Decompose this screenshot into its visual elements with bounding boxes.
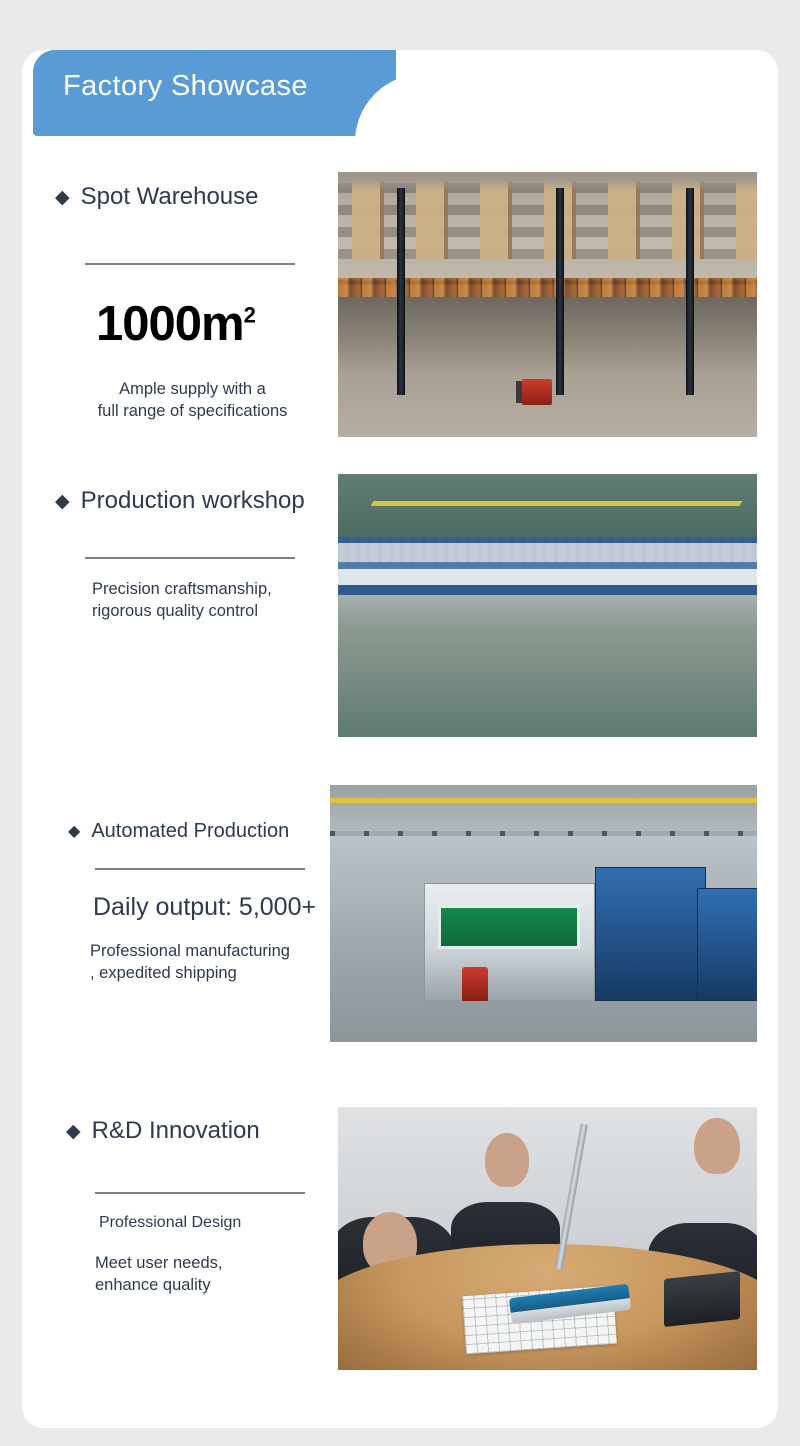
section-heading-automated-production: ◆ Automated Production <box>68 820 289 843</box>
automated-production-photo <box>330 785 757 1042</box>
photo-forklift <box>522 379 552 405</box>
section-title: R&D Innovation <box>92 1117 260 1145</box>
section-caption: Ample supply with a full range of specif… <box>85 378 300 423</box>
photo-laptop <box>664 1271 740 1327</box>
section-divider <box>95 868 305 870</box>
stat-daily-output: Daily output: 5,000+ <box>93 893 316 922</box>
section-subline: Professional Design <box>99 1214 241 1232</box>
section-heading-spot-warehouse: ◆ Spot Warehouse <box>55 183 259 211</box>
production-workshop-photo: 生 产 <box>338 474 757 737</box>
factory-showcase-page: Factory Showcase ◆ Spot Warehouse 1000m2… <box>0 0 800 1446</box>
photo-machine-blue <box>697 888 757 1001</box>
section-heading-production-workshop: ◆ Production workshop <box>55 487 305 515</box>
spot-warehouse-photo <box>338 172 757 437</box>
section-divider <box>95 1192 305 1194</box>
rd-innovation-photo <box>338 1107 757 1370</box>
diamond-bullet-icon: ◆ <box>66 1122 81 1141</box>
caption-line: enhance quality <box>95 1274 325 1296</box>
stat-warehouse-area: 1000m2 <box>96 296 255 352</box>
caption-line: rigorous quality control <box>92 600 322 622</box>
page-title: Factory Showcase <box>63 70 308 103</box>
photo-person-head <box>694 1118 740 1174</box>
photo-machine-window <box>438 905 580 949</box>
section-divider <box>85 557 295 559</box>
section-title: Spot Warehouse <box>81 183 259 211</box>
section-title: Production workshop <box>81 487 305 515</box>
section-caption: Professional manufacturing , expedited s… <box>90 940 335 985</box>
diamond-bullet-icon: ◆ <box>55 492 70 511</box>
section-caption: Precision craftsmanship, rigorous qualit… <box>92 578 322 623</box>
caption-line: Meet user needs, <box>95 1252 325 1274</box>
photo-column <box>556 188 564 395</box>
stat-value: 1000m <box>96 297 244 351</box>
caption-line: Ample supply with a <box>85 378 300 400</box>
diamond-bullet-icon: ◆ <box>55 188 70 207</box>
section-heading-rd-innovation: ◆ R&D Innovation <box>66 1117 260 1145</box>
stat-superscript: 2 <box>244 303 255 328</box>
photo-floor <box>330 785 757 831</box>
diamond-bullet-icon: ◆ <box>68 824 80 840</box>
photo-column <box>397 188 405 395</box>
caption-line: , expedited shipping <box>90 962 335 984</box>
photo-column <box>686 188 694 395</box>
section-divider <box>85 263 295 265</box>
caption-line: Professional manufacturing <box>90 940 335 962</box>
photo-floor <box>338 474 757 537</box>
photo-machine <box>424 883 595 1001</box>
photo-machine-blue <box>595 867 706 1001</box>
caption-line: full range of specifications <box>85 400 300 422</box>
section-title: Automated Production <box>91 820 289 843</box>
section-caption: Meet user needs, enhance quality <box>95 1252 325 1297</box>
caption-line: Precision craftsmanship, <box>92 578 322 600</box>
photo-bin <box>462 967 488 1001</box>
photo-person-head <box>485 1133 529 1187</box>
